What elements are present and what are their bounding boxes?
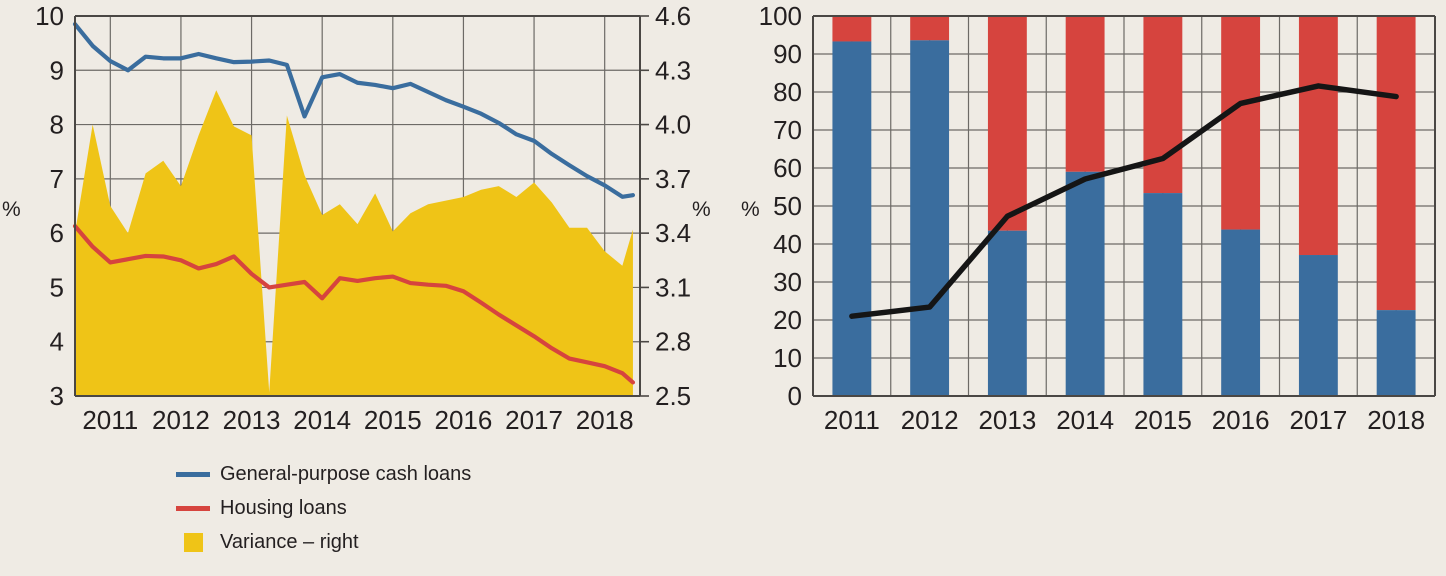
y-axis-tick-label: 8 (50, 110, 64, 140)
bar-variable-interest-rates (910, 40, 949, 396)
x-axis-tick-label: 2011 (824, 405, 880, 435)
y2-axis-tick-label: 3.4 (655, 218, 691, 248)
y-axis-tick-label: 7 (50, 164, 64, 194)
left-chart-y-axis-unit: % (2, 198, 21, 222)
y-axis-tick-label: 30 (773, 267, 802, 297)
x-axis-tick-label: 2017 (505, 405, 563, 435)
legend-item-general-purpose-cash-loans[interactable]: General-purpose cash loans (175, 457, 471, 491)
y-axis-tick-label: 100 (759, 1, 802, 31)
y-axis-tick-label: 3 (50, 381, 64, 411)
bar-variable-interest-rates (988, 231, 1027, 396)
y-axis-tick-label: 80 (773, 77, 802, 107)
y2-axis-tick-label: 4.3 (655, 55, 691, 85)
legend-label: General-purpose cash loans (220, 464, 471, 484)
right-chart-y-axis-unit: % (741, 198, 760, 222)
interest-rates-chart-panel: 3456789102.52.83.13.43.74.04.34.62011201… (0, 0, 723, 576)
bar-variable-interest-rates (1299, 255, 1338, 396)
y-axis-tick-label: 60 (773, 153, 802, 183)
bar-variable-interest-rates (1377, 310, 1416, 396)
y-axis-tick-label: 0 (788, 381, 802, 411)
y-axis-tick-label: 10 (35, 1, 64, 31)
loan-structure-chart-panel: 0102030405060708090100201120122013201420… (723, 0, 1446, 576)
y2-axis-tick-label: 2.5 (655, 381, 691, 411)
y-axis-tick-label: 20 (773, 305, 802, 335)
x-axis-tick-label: 2015 (1134, 405, 1192, 435)
legend-swatch-icon-yellow (175, 533, 211, 552)
bar-fixed-interest-rates (1066, 16, 1105, 172)
x-axis-tick-label: 2011 (82, 405, 138, 435)
bar-fixed-interest-rates (832, 16, 871, 41)
legend-item-housing-loans[interactable]: Housing loans (175, 491, 471, 525)
x-axis-tick-label: 2013 (223, 405, 281, 435)
y-axis-tick-label: 9 (50, 55, 64, 85)
bar-fixed-interest-rates (1221, 16, 1260, 230)
y-axis-tick-label: 70 (773, 115, 802, 145)
y-axis-tick-label: 4 (50, 327, 64, 357)
chart-page: 3456789102.52.83.13.43.74.04.34.62011201… (0, 0, 1446, 576)
legend-line-icon-blue (175, 472, 211, 477)
x-axis-tick-label: 2018 (1367, 405, 1425, 435)
y-axis-tick-label: 90 (773, 39, 802, 69)
bar-fixed-interest-rates (1299, 16, 1338, 255)
bar-fixed-interest-rates (1377, 16, 1416, 310)
x-axis-tick-label: 2018 (576, 405, 634, 435)
y2-axis-tick-label: 4.0 (655, 110, 691, 140)
y2-axis-tick-label: 2.8 (655, 327, 691, 357)
y-axis-tick-label: 40 (773, 229, 802, 259)
y2-axis-tick-label: 4.6 (655, 1, 691, 31)
x-axis-tick-label: 2014 (293, 405, 351, 435)
y2-axis-tick-label: 3.1 (655, 272, 691, 302)
bar-variable-interest-rates (832, 41, 871, 396)
x-axis-tick-label: 2017 (1289, 405, 1347, 435)
y-axis-tick-label: 50 (773, 191, 802, 221)
x-axis-tick-label: 2016 (435, 405, 493, 435)
left-chart-legend: General-purpose cash loans Housing loans… (175, 457, 471, 559)
left-chart-y2-axis-unit: % (692, 198, 711, 222)
bar-fixed-interest-rates (988, 16, 1027, 231)
bar-variable-interest-rates (1221, 230, 1260, 396)
legend-label: Housing loans (220, 498, 347, 518)
x-axis-tick-label: 2013 (978, 405, 1036, 435)
bar-variable-interest-rates (1143, 193, 1182, 396)
loan-structure-chart-svg: 0102030405060708090100201120122013201420… (723, 0, 1446, 450)
legend-line-icon-red (175, 506, 211, 511)
bar-fixed-interest-rates (910, 16, 949, 40)
x-axis-tick-label: 2012 (152, 405, 210, 435)
interest-rates-chart-svg: 3456789102.52.83.13.43.74.04.34.62011201… (0, 0, 723, 450)
x-axis-tick-label: 2014 (1056, 405, 1114, 435)
x-axis-tick-label: 2015 (364, 405, 422, 435)
y-axis-tick-label: 5 (50, 272, 64, 302)
bar-variable-interest-rates (1066, 172, 1105, 396)
y-axis-tick-label: 10 (773, 343, 802, 373)
bar-fixed-interest-rates (1143, 16, 1182, 193)
x-axis-tick-label: 2012 (901, 405, 959, 435)
y-axis-tick-label: 6 (50, 218, 64, 248)
x-axis-tick-label: 2016 (1212, 405, 1270, 435)
y2-axis-tick-label: 3.7 (655, 164, 691, 194)
legend-label: Variance – right (220, 532, 359, 552)
legend-item-variance[interactable]: Variance – right (175, 525, 471, 559)
